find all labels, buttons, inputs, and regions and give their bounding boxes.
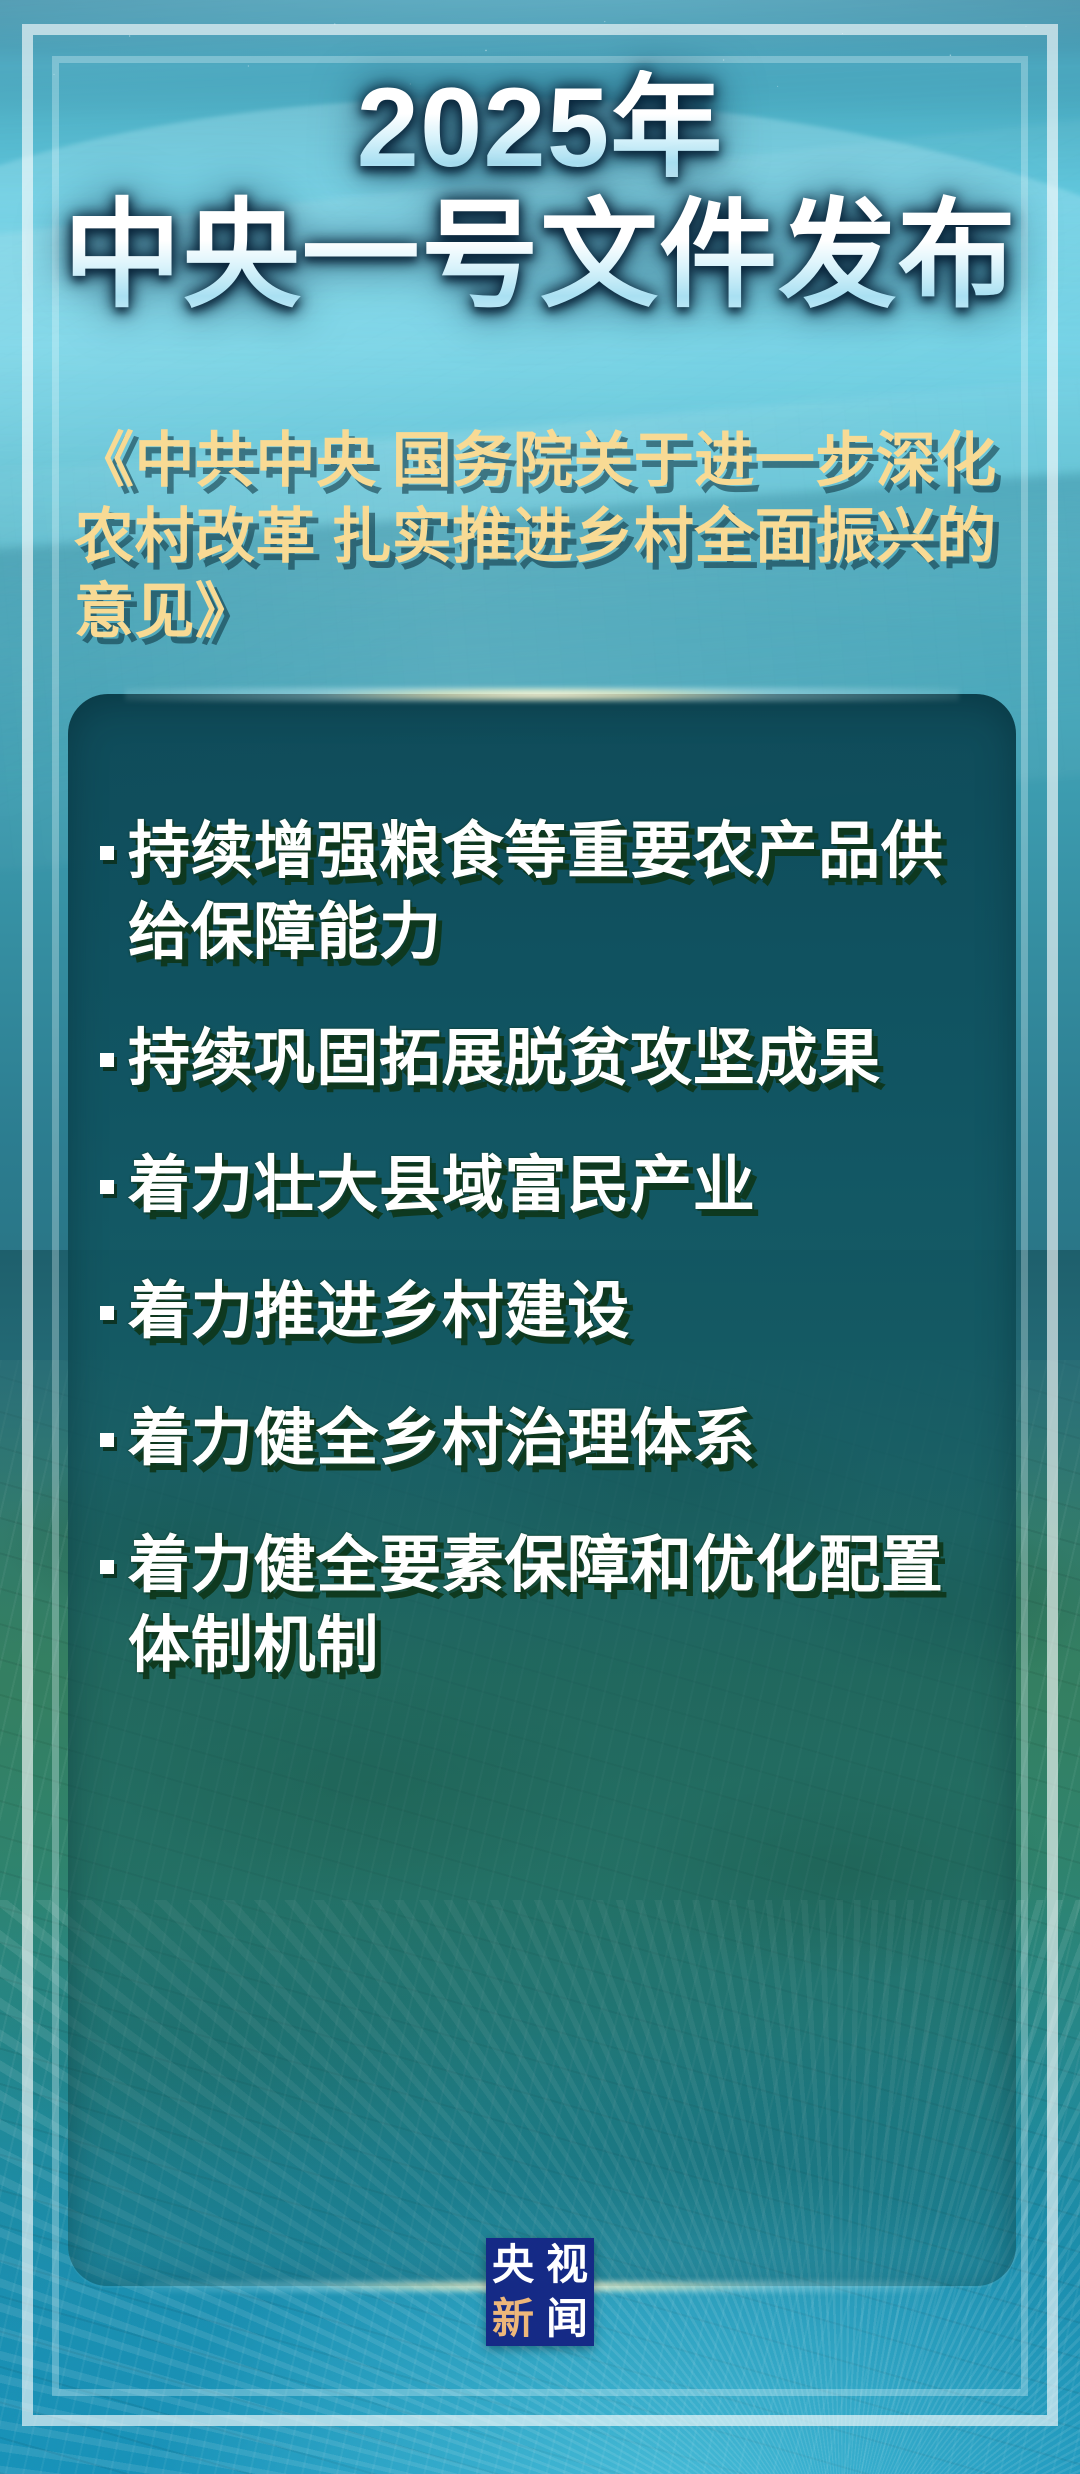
list-item: 着力壮大县域富民产业 [86,1146,990,1227]
bullet-square-icon [100,1306,114,1320]
bullet-square-icon [100,1053,114,1067]
panel-top-glow-line [125,687,959,702]
content-panel: 持续增强粮食等重要农产品供给保障能力 持续巩固拓展脱贫攻坚成果 着力壮大县域富民… [68,694,1016,2286]
list-item-label: 着力推进乡村建设 [128,1272,990,1353]
title-year: 2025年 [0,70,1080,186]
list-item: 着力推进乡村建设 [86,1272,990,1353]
document-title: 《中共中央 国务院关于进一步深化农村改革 扎实推进乡村全面振兴的意见》 [74,424,1020,651]
list-item: 着力健全要素保障和优化配置体制机制 [86,1526,990,1687]
list-item: 持续增强粮食等重要农产品供给保障能力 [86,812,990,973]
list-item-label: 着力壮大县域富民产业 [128,1146,990,1227]
logo-char-xin: 新 [492,2298,534,2340]
bullet-square-icon [100,1560,114,1574]
bullet-square-icon [100,846,114,860]
list-item-label: 着力健全要素保障和优化配置体制机制 [128,1526,990,1687]
list-item-label: 持续增强粮食等重要农产品供给保障能力 [128,812,990,973]
logo-char-yang: 央 [492,2244,534,2286]
list-item-label: 着力健全乡村治理体系 [128,1399,990,1480]
bullet-square-icon [100,1180,114,1194]
page-title: 中央一号文件发布 [0,190,1080,322]
logo-char-wen: 闻 [546,2298,588,2340]
poster-heading-group: 2025年 中央一号文件发布 [0,70,1080,323]
cctv-news-logo: 央 视 新 闻 [486,2238,594,2346]
list-item-label: 持续巩固拓展脱贫攻坚成果 [128,1019,990,1100]
list-item: 着力健全乡村治理体系 [86,1399,990,1480]
bullet-square-icon [100,1433,114,1447]
bullet-list: 持续增强粮食等重要农产品供给保障能力 持续巩固拓展脱贫攻坚成果 着力壮大县域富民… [86,812,990,1687]
logo-char-shi: 视 [546,2244,588,2286]
list-item: 持续巩固拓展脱贫攻坚成果 [86,1019,990,1100]
poster-root: 2025年 中央一号文件发布 《中共中央 国务院关于进一步深化农村改革 扎实推进… [0,0,1080,2474]
